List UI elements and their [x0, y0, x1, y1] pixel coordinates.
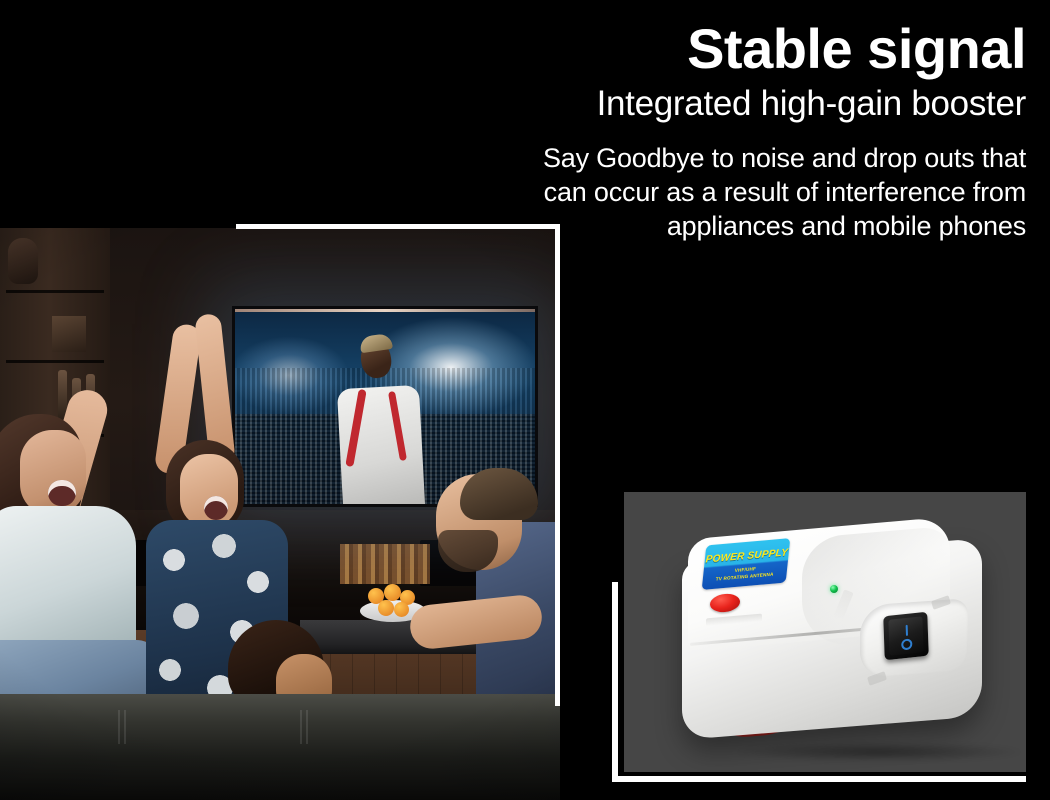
switch-on-symbol-icon: [906, 625, 908, 636]
switch-off-symbol-icon: [901, 638, 912, 650]
product-label: POWER SUPPLY VHF/UHF TV ROTATING ANTENNA: [702, 538, 791, 590]
decor-box: [52, 316, 86, 352]
description-text: Say Goodbye to noise and drop outs that …: [506, 141, 1026, 243]
promo-banner: Stable signal Integrated high-gain boost…: [0, 0, 1050, 800]
lifestyle-photo: [0, 228, 560, 800]
power-led-indicator: [830, 585, 838, 593]
rocker-icon: [888, 616, 923, 655]
power-switch[interactable]: [883, 612, 929, 660]
photo-frame-right-line: [555, 224, 560, 706]
decor-vase: [8, 238, 38, 284]
product-frame-bottom-line: [612, 776, 1026, 782]
product-image-panel: POWER SUPPLY VHF/UHF TV ROTATING ANTENNA: [624, 492, 1026, 772]
page-subtitle: Integrated high-gain booster: [506, 84, 1026, 123]
product-label-title: POWER SUPPLY: [704, 547, 789, 565]
power-supply-device: POWER SUPPLY VHF/UHF TV ROTATING ANTENNA: [682, 528, 982, 728]
product-frame-left-line: [612, 582, 618, 782]
couch: [0, 694, 560, 800]
page-title: Stable signal: [506, 20, 1026, 78]
marketing-text-block: Stable signal Integrated high-gain boost…: [506, 20, 1026, 243]
